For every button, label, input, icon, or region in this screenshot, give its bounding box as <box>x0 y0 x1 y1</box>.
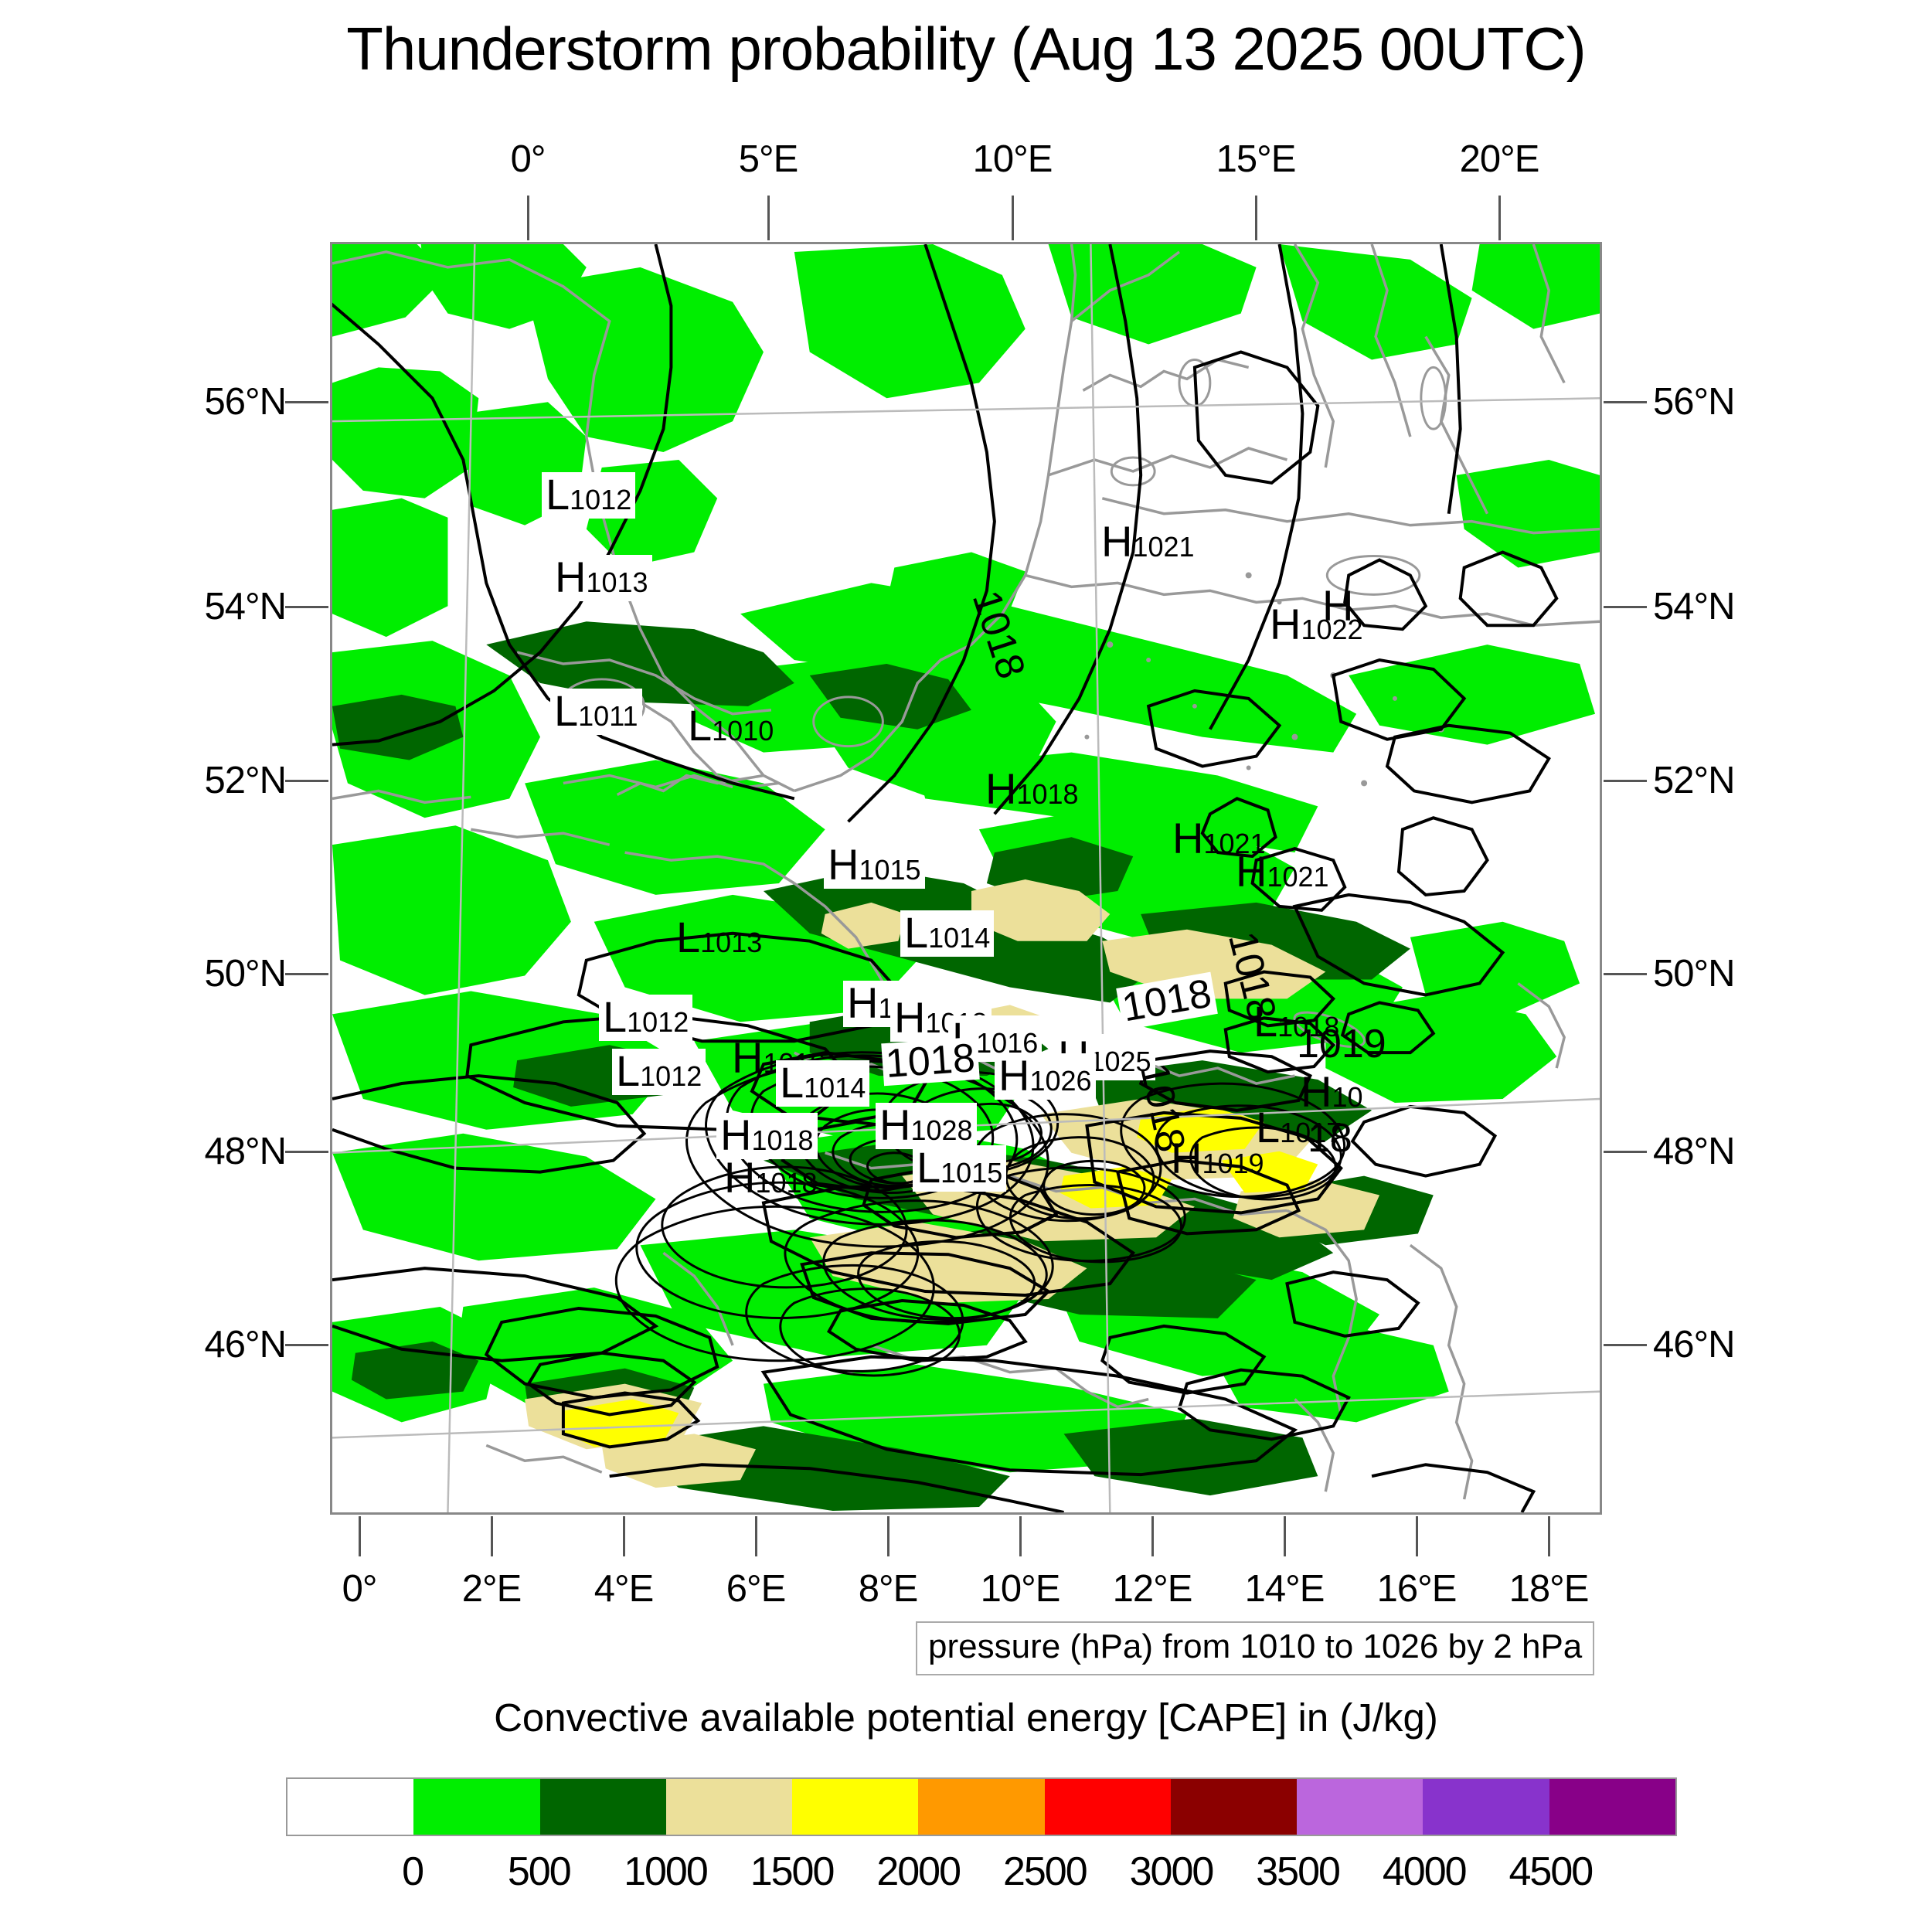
pressure-centre-l-1012-20: L1012 <box>612 1049 706 1095</box>
bottom-tick-label-6: 12°E <box>1113 1567 1192 1611</box>
colorbar-tick-4500: 4500 <box>1509 1849 1593 1895</box>
colorbar-swatch-9[interactable] <box>1423 1779 1549 1835</box>
left-tickmark-0 <box>285 401 328 403</box>
bottom-tick-label-9: 18°E <box>1509 1567 1589 1611</box>
pressure-centre-l-1012-15: L1012 <box>599 995 692 1041</box>
bottom-tick-label-8: 16°E <box>1377 1567 1457 1611</box>
bottom-tickmark-2 <box>623 1516 625 1556</box>
colorbar-swatch-1[interactable] <box>413 1779 539 1835</box>
page-title: Thunderstorm probability (Aug 13 2025 00… <box>0 14 1932 84</box>
top-tickmark-1 <box>767 196 770 240</box>
bottom-tickmark-7 <box>1284 1516 1286 1556</box>
pressure-centre-l-1010-3: L1010 <box>684 703 777 750</box>
isobar-label-18-6: 18 <box>1304 1117 1355 1160</box>
pressure-centre-h-1026-22: H1026 <box>995 1053 1096 1100</box>
pressure-centre-h-1018-29: H1018 <box>720 1155 821 1202</box>
weather-map-svg <box>332 244 1600 1512</box>
pressure-centre-l-1014-21: L1014 <box>776 1060 869 1107</box>
isobar-label-1019-5: 1019 <box>1294 1023 1389 1066</box>
bottom-tickmark-4 <box>887 1516 889 1556</box>
left-tick-label-4: 48°N <box>131 1130 286 1173</box>
left-tickmark-4 <box>285 1151 328 1153</box>
colorbar-tick-2500: 2500 <box>1003 1849 1087 1895</box>
left-tick-label-1: 54°N <box>131 585 286 628</box>
right-tick-label-2: 52°N <box>1653 759 1734 802</box>
right-tickmark-0 <box>1604 401 1647 403</box>
right-tickmark-5 <box>1604 1344 1647 1346</box>
top-tickmark-2 <box>1012 196 1014 240</box>
top-tick-label-3: 15°E <box>1216 138 1296 181</box>
colorbar-caption: Convective available potential energy [C… <box>0 1695 1932 1740</box>
right-tick-label-4: 48°N <box>1653 1130 1734 1173</box>
colorbar-swatch-2[interactable] <box>540 1779 666 1835</box>
colorbar-tick-1500: 1500 <box>750 1849 834 1895</box>
bottom-tick-label-2: 4°E <box>594 1567 654 1611</box>
right-tickmark-4 <box>1604 1151 1647 1153</box>
right-tickmark-2 <box>1604 780 1647 782</box>
colorbar-tick-1000: 1000 <box>624 1849 707 1895</box>
left-tickmark-1 <box>285 606 328 608</box>
top-tickmark-4 <box>1498 196 1501 240</box>
left-tickmark-3 <box>285 973 328 975</box>
pressure-centre-l-1013-11: L1013 <box>672 915 766 961</box>
isobar-label-1018-3: 1018 <box>881 1037 979 1086</box>
bottom-tick-label-4: 8°E <box>859 1567 918 1611</box>
colorbar-tick-3500: 3500 <box>1256 1849 1339 1895</box>
left-tick-label-5: 46°N <box>131 1323 286 1366</box>
pressure-centre-l-1011-2: L1011 <box>550 689 642 735</box>
bottom-tickmark-3 <box>755 1516 757 1556</box>
top-tickmark-3 <box>1255 196 1257 240</box>
pressure-centre-h-1028-24: H1028 <box>876 1103 977 1149</box>
right-tick-label-3: 50°N <box>1653 952 1734 995</box>
colorbar-swatch-4[interactable] <box>792 1779 918 1835</box>
bottom-tick-label-3: 6°E <box>726 1567 786 1611</box>
bottom-tick-label-7: 14°E <box>1245 1567 1325 1611</box>
colorbar-swatch-3[interactable] <box>666 1779 792 1835</box>
left-tickmark-5 <box>285 1344 328 1346</box>
colorbar-swatch-10[interactable] <box>1549 1779 1675 1835</box>
left-tickmark-2 <box>285 780 328 782</box>
bottom-tick-label-5: 10°E <box>981 1567 1060 1611</box>
top-tick-label-1: 5°E <box>739 138 798 181</box>
left-tick-label-0: 56°N <box>131 380 286 423</box>
bottom-tick-label-1: 2°E <box>462 1567 522 1611</box>
pressure-centre-l-1014-12: L1014 <box>900 910 994 957</box>
colorbar-tick-0: 0 <box>402 1849 423 1895</box>
pressure-centre-h-1018-26: H1018 <box>716 1113 818 1159</box>
cape-colorbar[interactable] <box>286 1777 1677 1836</box>
pressure-centre-l-1012-0: L1012 <box>542 472 635 519</box>
pressure-centre-h-1015-10: H1015 <box>824 842 925 889</box>
bottom-tickmark-9 <box>1548 1516 1550 1556</box>
cape-colorbar-ticks: 050010001500200025003000350040004500 <box>286 1849 1677 1903</box>
pressure-centre-h-1022-6: H1022 <box>1266 602 1367 648</box>
bottom-tickmark-6 <box>1151 1516 1154 1556</box>
bottom-tickmark-0 <box>359 1516 361 1556</box>
right-tickmark-1 <box>1604 606 1647 608</box>
top-tick-label-0: 0° <box>511 138 546 181</box>
colorbar-tick-2000: 2000 <box>876 1849 960 1895</box>
colorbar-swatch-7[interactable] <box>1171 1779 1297 1835</box>
right-tickmark-3 <box>1604 973 1647 975</box>
pressure-centre-h-1018-7: H1018 <box>981 767 1083 813</box>
left-tick-label-2: 52°N <box>131 759 286 802</box>
colorbar-swatch-6[interactable] <box>1045 1779 1171 1835</box>
top-tickmark-0 <box>527 196 529 240</box>
colorbar-tick-500: 500 <box>508 1849 570 1895</box>
bottom-tickmark-1 <box>491 1516 493 1556</box>
right-tick-label-1: 54°N <box>1653 585 1734 628</box>
bottom-tickmark-8 <box>1416 1516 1418 1556</box>
bottom-tick-label-0: 0° <box>342 1567 377 1611</box>
pressure-centre-h-1021-9: H1021 <box>1232 849 1333 896</box>
top-tick-label-4: 20°E <box>1460 138 1539 181</box>
top-tick-label-2: 10°E <box>973 138 1053 181</box>
colorbar-swatch-0[interactable] <box>287 1779 413 1835</box>
right-tick-label-5: 46°N <box>1653 1323 1734 1366</box>
left-tick-label-3: 50°N <box>131 952 286 995</box>
right-tick-label-0: 56°N <box>1653 380 1734 423</box>
pressure-centre-h-1013-1: H1013 <box>551 555 652 601</box>
colorbar-swatch-8[interactable] <box>1297 1779 1423 1835</box>
pressure-centre-h-1021-4: H1021 <box>1097 519 1199 566</box>
bottom-tickmark-5 <box>1019 1516 1022 1556</box>
colorbar-tick-4000: 4000 <box>1383 1849 1466 1895</box>
pressure-contour-note: pressure (hPa) from 1010 to 1026 by 2 hP… <box>916 1621 1594 1675</box>
pressure-centre-l-1015-27: L1015 <box>913 1145 1006 1192</box>
colorbar-swatch-5[interactable] <box>918 1779 1044 1835</box>
colorbar-tick-3000: 3000 <box>1130 1849 1213 1895</box>
map-plot-area[interactable]: L1012H1013L1011L1010H1021HH1022H1018H102… <box>330 242 1602 1515</box>
